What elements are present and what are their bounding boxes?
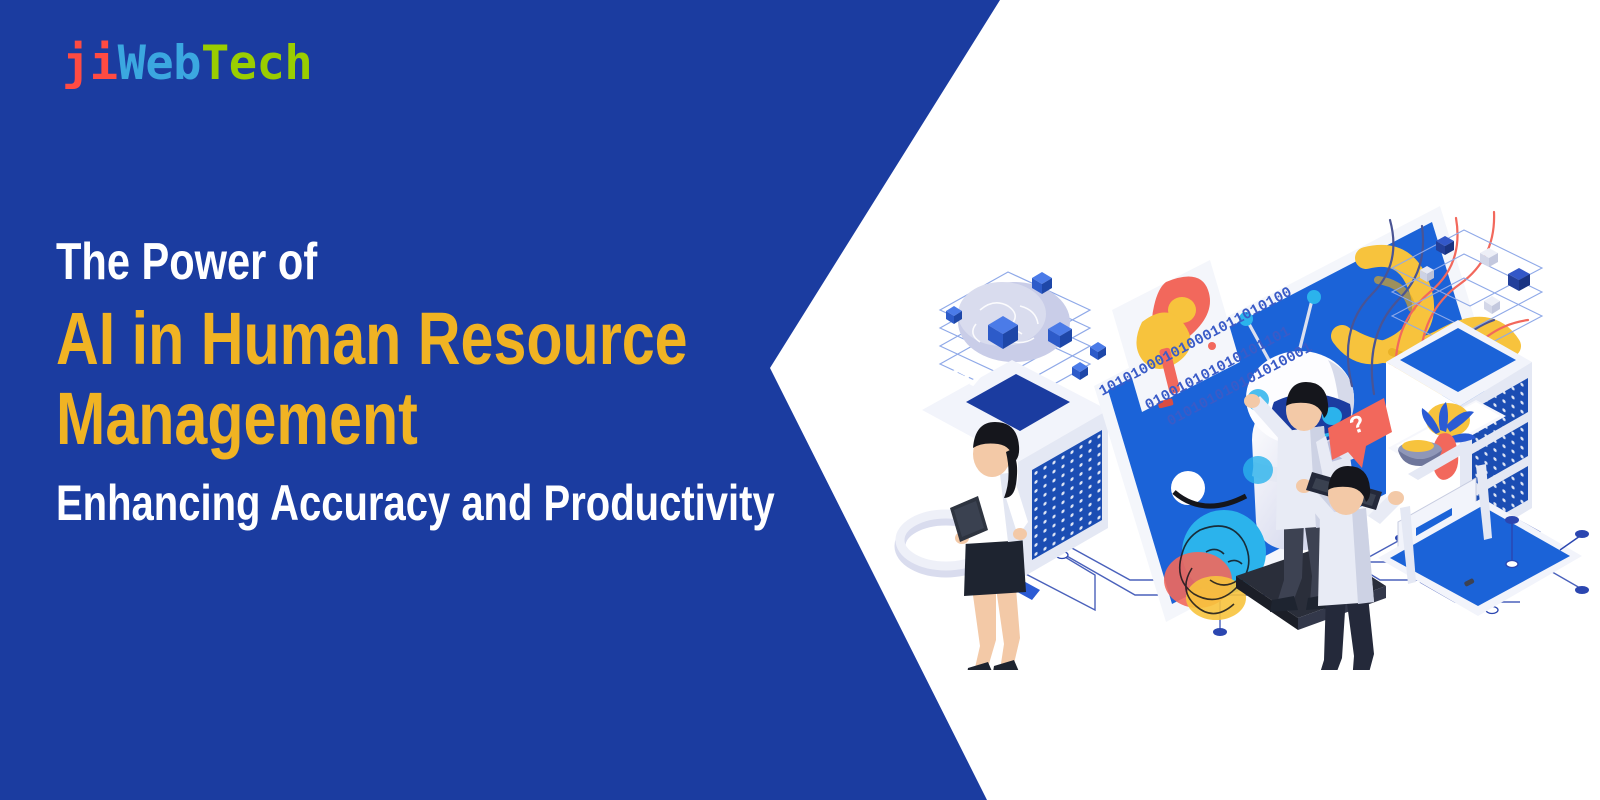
promo-banner: jiWebTech The Power of AI in Human Resou… <box>0 0 1600 800</box>
logo-part-tech: Tech <box>201 36 312 91</box>
headline-line-2: AI in Human Resource <box>56 302 616 376</box>
logo-part-ji: ji <box>62 36 118 91</box>
logo-part-web: Web <box>118 36 201 91</box>
brain-shape <box>958 282 1070 362</box>
headline-block: The Power of AI in Human Resource Manage… <box>56 236 756 528</box>
ai-illustration-svg: AI <box>880 110 1600 670</box>
brand-logo[interactable]: jiWebTech <box>62 40 312 87</box>
headline-line-1: The Power of <box>56 236 616 288</box>
headline-line-3: Management <box>56 382 616 456</box>
headline-subtitle: Enhancing Accuracy and Productivity <box>56 478 616 528</box>
ai-illustration: AI <box>880 110 1600 670</box>
platform-pin-rings <box>1506 561 1518 568</box>
